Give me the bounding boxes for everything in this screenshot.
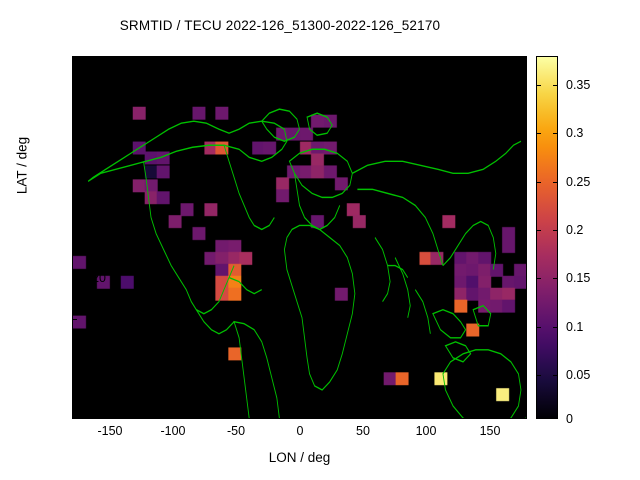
colorbar-gradient bbox=[537, 57, 557, 418]
plot-figure: SRMTID / TECU 2022-126_51300-2022-126_52… bbox=[0, 0, 640, 480]
colorbar-tick-label: 0.25 bbox=[566, 175, 590, 189]
colorbar-tick-label: 0.2 bbox=[566, 223, 583, 237]
x-tick-label: -50 bbox=[206, 424, 266, 438]
x-tick-label: -150 bbox=[80, 424, 140, 438]
colorbar-tick-label: 0.3 bbox=[566, 126, 583, 140]
x-tick-label: 0 bbox=[270, 424, 330, 438]
colorbar-tick-label: 0 bbox=[566, 412, 573, 426]
coastline-overlay bbox=[73, 57, 526, 418]
x-tick-label: 150 bbox=[460, 424, 520, 438]
chart-title: SRMTID / TECU 2022-126_51300-2022-126_52… bbox=[0, 18, 560, 33]
colorbar-tick-label: 0.05 bbox=[566, 368, 590, 382]
colorbar-tick-label: 0.1 bbox=[566, 320, 583, 334]
y-axis-label: LAT / deg bbox=[15, 106, 30, 226]
colorbar-tick-label: 0.35 bbox=[566, 78, 590, 92]
map-plot-area bbox=[72, 56, 527, 419]
x-tick-label: 50 bbox=[333, 424, 393, 438]
x-tick-label: 100 bbox=[396, 424, 456, 438]
x-axis-label: LON / deg bbox=[72, 450, 527, 465]
colorbar-tick-label: 0.15 bbox=[566, 271, 590, 285]
x-tick-label: -100 bbox=[143, 424, 203, 438]
colorbar bbox=[536, 56, 558, 419]
